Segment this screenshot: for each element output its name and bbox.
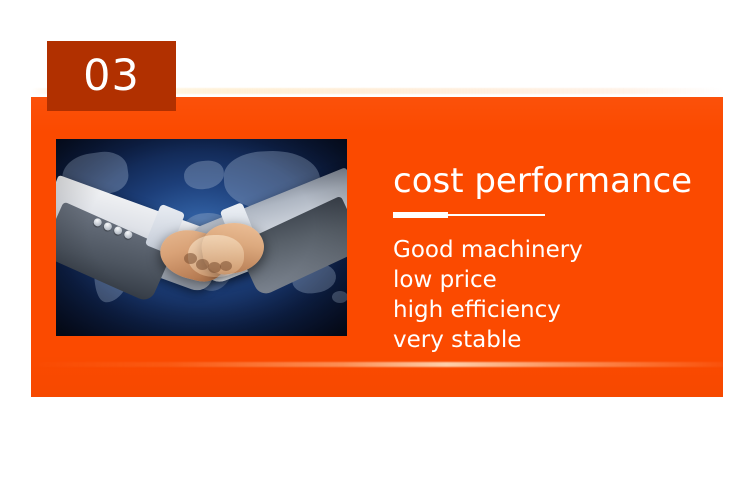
feature-line: very stable [393,325,703,355]
feature-line: Good machinery [393,235,703,265]
divider-thin-segment [448,214,545,216]
divider-thick-segment [393,212,448,218]
slide-root: 03 [0,0,750,481]
content-block: cost performance Good machinery low pric… [393,160,703,355]
feature-list: Good machinery low price high efficiency… [393,235,703,355]
feature-line: low price [393,265,703,295]
section-title: cost performance [393,160,703,202]
handshake-image [56,139,347,336]
feature-line: high efficiency [393,295,703,325]
panel-light-streak-bottom [31,362,723,367]
slide-number-badge: 03 [47,41,176,111]
title-divider [393,212,545,218]
slide-number-text: 03 [83,55,140,98]
